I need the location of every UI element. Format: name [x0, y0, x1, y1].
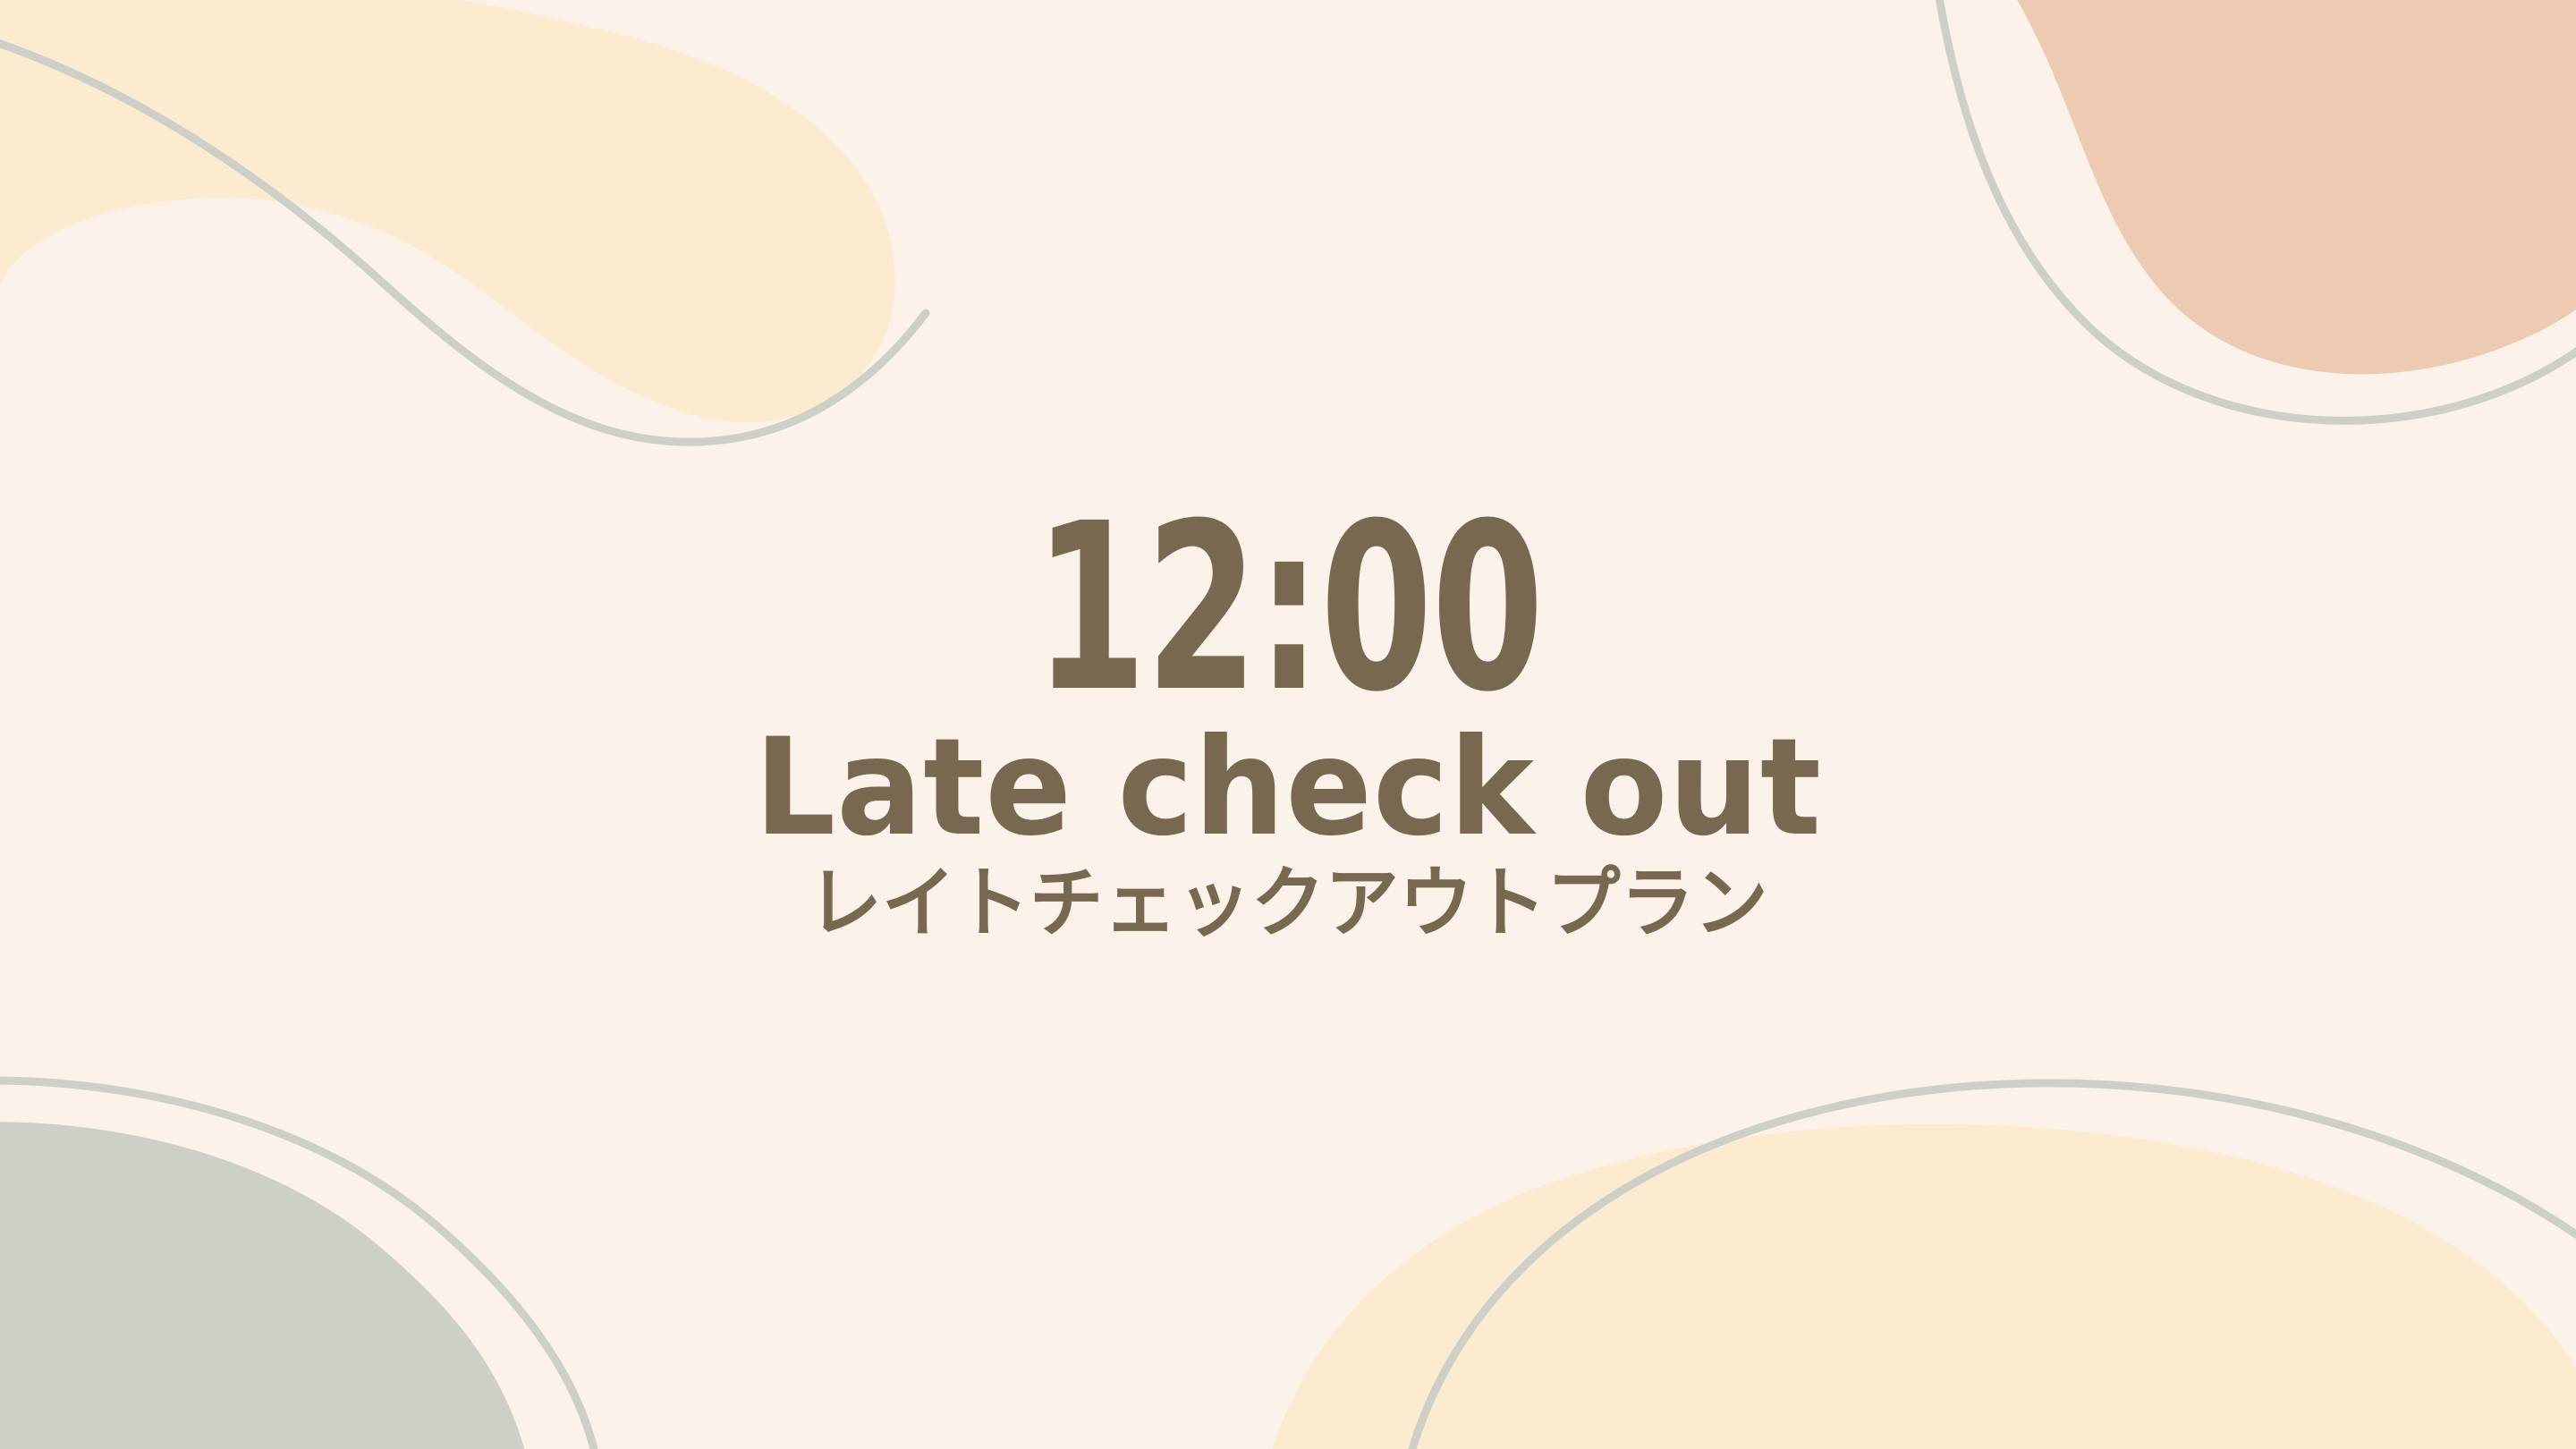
plan-title-english: Late check out [754, 720, 1822, 857]
plan-title-japanese: レイトチェックアウトプラン [808, 860, 1767, 946]
poster-text-stack: 12:00 Late check out レイトチェックアウトプラン [0, 0, 2576, 1449]
checkout-time: 12:00 [1034, 503, 1543, 715]
poster-canvas: 12:00 Late check out レイトチェックアウトプラン [0, 0, 2576, 1449]
